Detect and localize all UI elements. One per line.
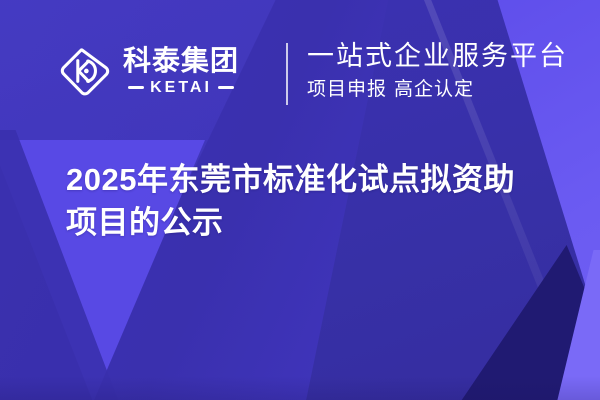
tagline-secondary: 项目申报 高企认定: [307, 76, 568, 102]
banner-header: 科泰集团 KETAI 一站式企业服务平台 项目申报 高企认定: [0, 0, 600, 140]
brand-wordmark: 科泰集团 KETAI: [123, 46, 239, 97]
header-divider: [286, 43, 288, 105]
background-bottom-shade: [0, 376, 600, 400]
brand-name-cn: 科泰集团: [123, 46, 239, 76]
brand-name-en-row: KETAI: [128, 79, 234, 97]
tagline-primary: 一站式企业服务平台: [307, 40, 568, 74]
brand-logo: 科泰集团 KETAI: [58, 44, 239, 98]
promo-banner: 科泰集团 KETAI 一站式企业服务平台 项目申报 高企认定 2025年东莞市标…: [0, 0, 600, 400]
header-tagline: 一站式企业服务平台 项目申报 高企认定: [307, 40, 568, 102]
brand-name-en: KETAI: [150, 79, 212, 97]
banner-title: 2025年东莞市标准化试点拟资助项目的公示: [66, 158, 546, 244]
wordmark-dash-left-icon: [128, 86, 144, 89]
ketai-diamond-monogram-icon: [58, 44, 112, 98]
wordmark-dash-right-icon: [218, 86, 234, 89]
